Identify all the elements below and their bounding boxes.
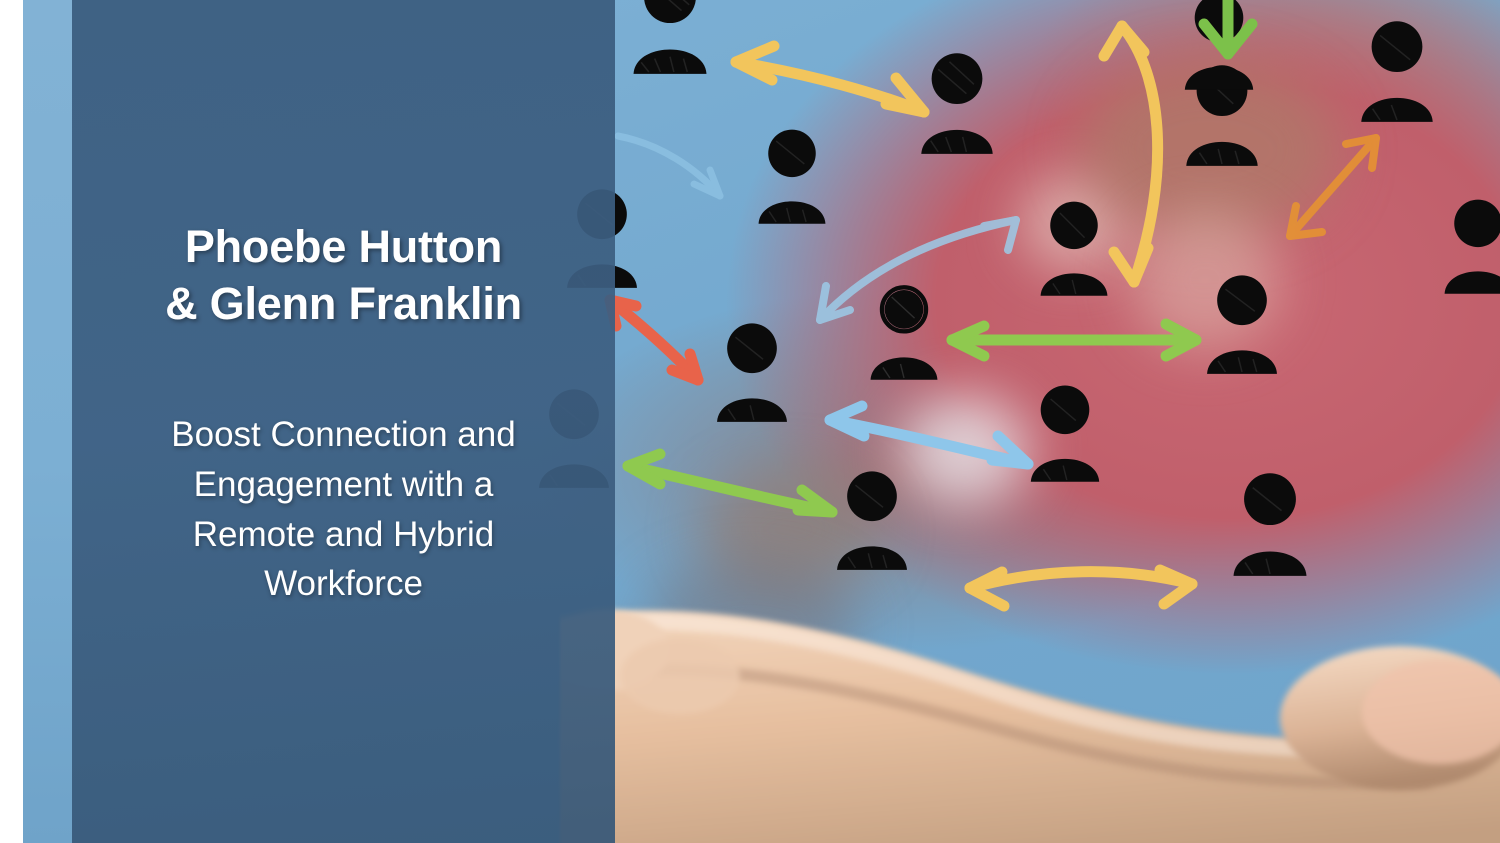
accent-band — [23, 0, 72, 843]
title-panel: Phoebe Hutton & Glenn Franklin Boost Con… — [72, 0, 615, 843]
speaker-names: Phoebe Hutton & Glenn Franklin — [129, 218, 559, 332]
left-margin — [0, 0, 23, 843]
session-title: Boost Connection and Engagement with a R… — [129, 410, 559, 609]
presentation-slide: Phoebe Hutton & Glenn Franklin Boost Con… — [0, 0, 1500, 843]
